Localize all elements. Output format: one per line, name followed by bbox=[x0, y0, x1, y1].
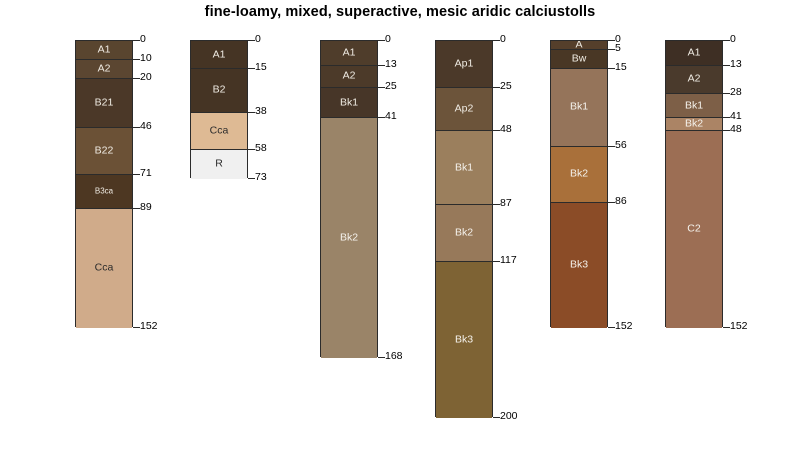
horizon-label: Bk3 bbox=[551, 260, 607, 271]
depth-tick-label: 152 bbox=[730, 321, 748, 332]
depth-tick-mark bbox=[608, 146, 615, 147]
horizon-label: Bk2 bbox=[436, 227, 492, 238]
horizon-label: B3ca bbox=[76, 187, 132, 196]
horizon-label: Bk3 bbox=[436, 334, 492, 345]
depth-tick-mark bbox=[723, 327, 730, 328]
depth-tick-label: 73 bbox=[255, 172, 267, 183]
depth-tick-label: 0 bbox=[140, 34, 146, 45]
depth-tick-label: 0 bbox=[500, 34, 506, 45]
horizon-label: A bbox=[551, 41, 607, 50]
depth-tick-label: 46 bbox=[140, 121, 152, 132]
depth-tick-mark bbox=[608, 40, 615, 41]
profile-column: A1A2B21B22B3caCca bbox=[75, 40, 133, 327]
horizon-label: Cca bbox=[76, 263, 132, 274]
depth-tick-mark bbox=[133, 59, 140, 60]
depth-tick-mark bbox=[493, 87, 500, 88]
depth-tick-mark bbox=[248, 68, 255, 69]
depth-tick-mark bbox=[723, 117, 730, 118]
depth-tick-mark bbox=[248, 178, 255, 179]
horizon-label: B2 bbox=[191, 85, 247, 96]
depth-tick-mark bbox=[378, 65, 385, 66]
depth-tick-label: 87 bbox=[500, 198, 512, 209]
depth-tick-label: 38 bbox=[255, 106, 267, 117]
depth-tick-label: 86 bbox=[615, 196, 627, 207]
soil-horizon: R bbox=[191, 150, 247, 178]
depth-tick-label: 41 bbox=[385, 111, 397, 122]
horizon-label: Bk1 bbox=[436, 162, 492, 173]
depth-tick-mark bbox=[723, 93, 730, 94]
soil-horizon: B22 bbox=[76, 128, 132, 175]
soil-horizon: B3ca bbox=[76, 175, 132, 209]
horizon-label: Ap2 bbox=[436, 104, 492, 115]
horizon-label: B22 bbox=[76, 145, 132, 156]
horizon-label: Bk2 bbox=[666, 119, 722, 130]
depth-tick-label: 13 bbox=[730, 59, 742, 70]
soil-horizon: Bk1 bbox=[551, 69, 607, 146]
soil-horizon: B2 bbox=[191, 69, 247, 112]
soil-horizon: Bk2 bbox=[321, 118, 377, 357]
depth-tick-mark bbox=[378, 87, 385, 88]
soil-horizon: Cca bbox=[191, 113, 247, 151]
horizon-label: Bk2 bbox=[321, 232, 377, 243]
soil-horizon: A bbox=[551, 41, 607, 50]
horizon-label: Ap1 bbox=[436, 59, 492, 70]
depth-tick-mark bbox=[378, 357, 385, 358]
depth-tick-mark bbox=[493, 204, 500, 205]
profile-column: A1B2CcaR bbox=[190, 40, 248, 178]
soil-profile-plot: A1A2B21B22B3caCca01020467189152A1B2CcaR0… bbox=[0, 0, 800, 450]
soil-horizon: Cca bbox=[76, 209, 132, 328]
depth-tick-mark bbox=[133, 78, 140, 79]
soil-horizon: A2 bbox=[666, 66, 722, 94]
soil-horizon: Bk1 bbox=[666, 94, 722, 119]
depth-tick-label: 28 bbox=[730, 87, 742, 98]
horizon-label: A1 bbox=[321, 47, 377, 58]
soil-horizon: Bk1 bbox=[321, 88, 377, 118]
depth-tick-label: 117 bbox=[500, 255, 517, 266]
depth-tick-label: 89 bbox=[140, 202, 152, 213]
depth-tick-mark bbox=[378, 40, 385, 41]
depth-tick-mark bbox=[723, 65, 730, 66]
depth-tick-mark bbox=[133, 174, 140, 175]
horizon-label: A1 bbox=[76, 44, 132, 55]
depth-tick-mark bbox=[608, 202, 615, 203]
soil-horizon: Bk2 bbox=[551, 147, 607, 204]
depth-tick-label: 71 bbox=[140, 168, 152, 179]
horizon-label: B21 bbox=[76, 97, 132, 108]
horizon-label: Bk2 bbox=[551, 169, 607, 180]
depth-tick-mark bbox=[248, 149, 255, 150]
profile-column: ABwBk1Bk2Bk3 bbox=[550, 40, 608, 327]
depth-tick-mark bbox=[608, 68, 615, 69]
profile-column: Ap1Ap2Bk1Bk2Bk3 bbox=[435, 40, 493, 417]
depth-tick-label: 0 bbox=[730, 34, 736, 45]
horizon-label: A2 bbox=[666, 74, 722, 85]
soil-horizon: A1 bbox=[191, 41, 247, 69]
soil-horizon: Ap2 bbox=[436, 88, 492, 131]
soil-horizon: A1 bbox=[76, 41, 132, 60]
depth-tick-label: 25 bbox=[500, 81, 512, 92]
horizon-label: Bk1 bbox=[666, 100, 722, 111]
depth-tick-label: 5 bbox=[615, 43, 621, 54]
depth-tick-label: 20 bbox=[140, 72, 152, 83]
depth-tick-label: 15 bbox=[255, 62, 267, 73]
depth-tick-label: 25 bbox=[385, 81, 397, 92]
horizon-label: Bk1 bbox=[321, 97, 377, 108]
horizon-label: Bw bbox=[551, 54, 607, 65]
soil-horizon: A2 bbox=[321, 66, 377, 89]
depth-tick-mark bbox=[133, 127, 140, 128]
soil-horizon: Bk3 bbox=[436, 262, 492, 418]
depth-tick-mark bbox=[723, 40, 730, 41]
depth-tick-label: 0 bbox=[385, 34, 391, 45]
horizon-label: C2 bbox=[666, 224, 722, 235]
depth-tick-label: 152 bbox=[140, 321, 158, 332]
depth-tick-mark bbox=[493, 130, 500, 131]
depth-tick-mark bbox=[133, 327, 140, 328]
depth-tick-mark bbox=[723, 130, 730, 131]
depth-tick-label: 200 bbox=[500, 411, 518, 422]
depth-tick-label: 58 bbox=[255, 143, 267, 154]
horizon-label: R bbox=[191, 159, 247, 170]
soil-horizon: A1 bbox=[666, 41, 722, 66]
depth-tick-mark bbox=[248, 40, 255, 41]
soil-horizon: Bk1 bbox=[436, 131, 492, 205]
depth-tick-label: 168 bbox=[385, 351, 403, 362]
soil-horizon: A2 bbox=[76, 60, 132, 79]
profile-column: A1A2Bk1Bk2C2 bbox=[665, 40, 723, 327]
depth-tick-label: 152 bbox=[615, 321, 633, 332]
horizon-label: A1 bbox=[191, 49, 247, 60]
depth-tick-mark bbox=[608, 327, 615, 328]
depth-tick-mark bbox=[248, 112, 255, 113]
horizon-label: A2 bbox=[321, 71, 377, 82]
soil-horizon: Bk2 bbox=[436, 205, 492, 262]
profile-column: A1A2Bk1Bk2 bbox=[320, 40, 378, 357]
horizon-label: A1 bbox=[666, 47, 722, 58]
depth-tick-label: 48 bbox=[500, 124, 512, 135]
depth-tick-mark bbox=[493, 261, 500, 262]
horizon-label: A2 bbox=[76, 63, 132, 74]
depth-tick-label: 48 bbox=[730, 124, 742, 135]
soil-horizon: B21 bbox=[76, 79, 132, 128]
depth-tick-label: 13 bbox=[385, 59, 397, 70]
horizon-label: Cca bbox=[191, 125, 247, 136]
depth-tick-mark bbox=[378, 117, 385, 118]
depth-tick-mark bbox=[493, 40, 500, 41]
horizon-label: Bk1 bbox=[551, 102, 607, 113]
depth-tick-mark bbox=[493, 417, 500, 418]
soil-horizon: Ap1 bbox=[436, 41, 492, 88]
depth-tick-mark bbox=[133, 208, 140, 209]
soil-horizon: Bk3 bbox=[551, 203, 607, 327]
depth-tick-label: 0 bbox=[255, 34, 261, 45]
soil-horizon: Bk2 bbox=[666, 118, 722, 131]
depth-tick-label: 56 bbox=[615, 140, 627, 151]
depth-tick-label: 41 bbox=[730, 111, 742, 122]
soil-horizon: A1 bbox=[321, 41, 377, 66]
depth-tick-mark bbox=[608, 49, 615, 50]
depth-tick-mark bbox=[133, 40, 140, 41]
soil-horizon: C2 bbox=[666, 131, 722, 327]
depth-tick-label: 10 bbox=[140, 53, 152, 64]
depth-tick-label: 15 bbox=[615, 62, 627, 73]
soil-horizon: Bw bbox=[551, 50, 607, 69]
